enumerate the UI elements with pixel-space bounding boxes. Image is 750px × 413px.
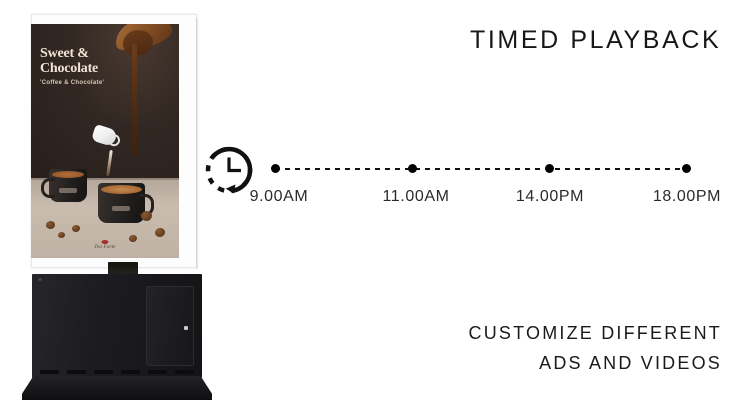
poster-title-line2: Chocolate — [40, 61, 140, 76]
timeline-label: 9.00AM — [250, 188, 309, 206]
chocolate-nugget-icon — [141, 211, 152, 221]
chocolate-nugget-icon — [155, 228, 165, 237]
vent-slot — [67, 370, 86, 374]
timeline-dot[interactable] — [408, 164, 417, 173]
mug-logo-mark — [59, 188, 77, 193]
timeline: 9.00AM 11.00AM 14.00PM 18.00PM — [198, 140, 738, 230]
kiosk-screen[interactable]: Sweet & Chocolate 'Coffee & Chocolate' T… — [31, 24, 179, 258]
timeline-track — [275, 168, 687, 170]
poster-brand-mark: Tea Forte — [94, 240, 115, 250]
cabinet-highlight — [38, 278, 42, 281]
timeline-dot[interactable] — [682, 164, 691, 173]
timeline-label: 18.00PM — [653, 188, 721, 206]
vent-slot — [94, 370, 113, 374]
brand-leaf-icon — [101, 240, 108, 244]
door-lock-icon[interactable] — [184, 326, 188, 330]
page-title: TIMED PLAYBACK — [470, 26, 721, 55]
mug-logo-mark — [112, 206, 130, 211]
kiosk-base-plinth — [22, 376, 212, 400]
footer-tagline: CUSTOMIZE DIFFERENT ADS AND VIDEOS — [302, 318, 722, 378]
timeline-label: 14.00PM — [516, 188, 584, 206]
coffee-mug-right-icon — [98, 183, 145, 223]
cabinet-vent-row — [40, 370, 194, 374]
chocolate-nugget-icon — [46, 221, 55, 229]
vent-slot — [175, 370, 194, 374]
vent-slot — [148, 370, 167, 374]
poster-headline-block: Sweet & Chocolate 'Coffee & Chocolate' — [40, 46, 140, 86]
service-door-panel[interactable] — [146, 286, 194, 366]
coffee-mug-left-icon — [49, 169, 87, 202]
footer-tagline-line2: ADS AND VIDEOS — [302, 348, 722, 378]
timed-playback-clock-icon — [202, 143, 256, 197]
poster-subtitle: 'Coffee & Chocolate' — [40, 80, 140, 86]
timeline-label: 11.00AM — [382, 188, 449, 206]
kiosk-cabinet — [32, 274, 202, 378]
digital-signage-kiosk: Sweet & Chocolate 'Coffee & Chocolate' T… — [22, 14, 222, 400]
timeline-dot[interactable] — [271, 164, 280, 173]
chocolate-nugget-icon — [58, 232, 65, 238]
brand-name: Tea Forte — [94, 245, 115, 250]
chocolate-nugget-icon — [129, 235, 137, 242]
vent-slot — [40, 370, 59, 374]
poster-title-line1: Sweet & — [40, 46, 140, 61]
footer-tagline-line1: CUSTOMIZE DIFFERENT — [302, 318, 722, 348]
vent-slot — [121, 370, 140, 374]
timeline-dot[interactable] — [545, 164, 554, 173]
